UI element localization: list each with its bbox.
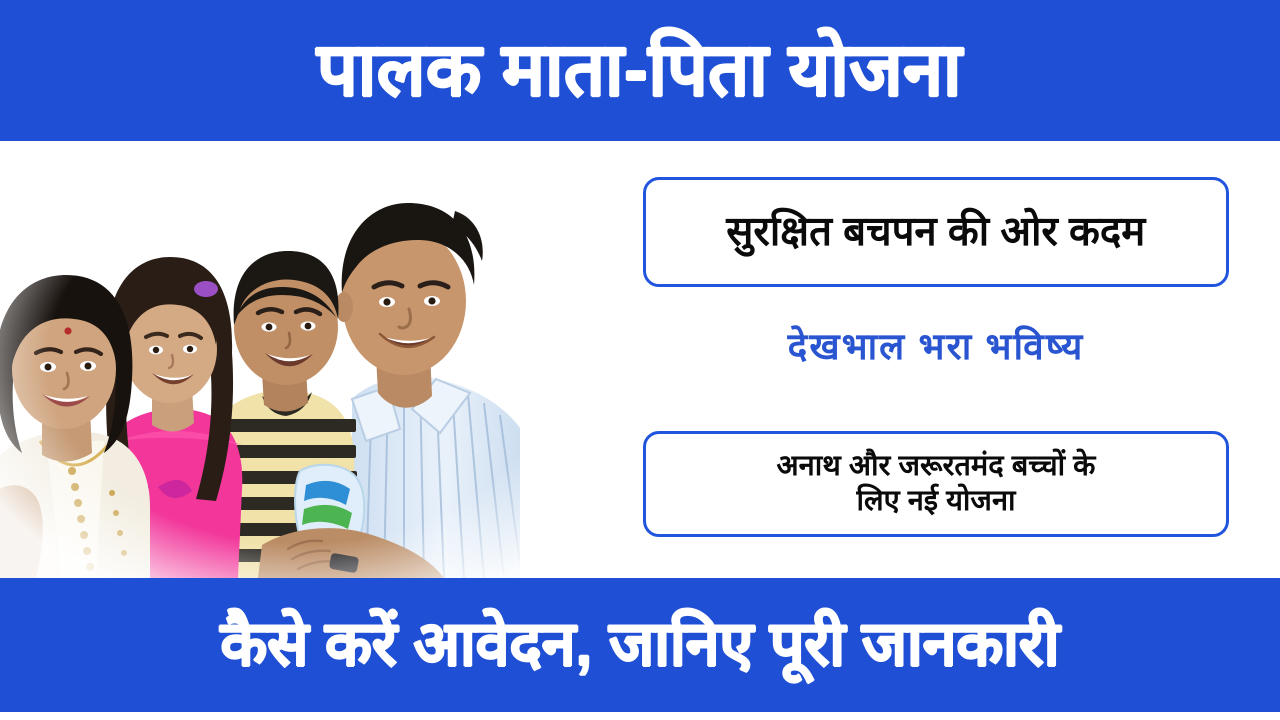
callout-column: सुरक्षित बचपन की ओर कदम देखभाल भरा भविष्… xyxy=(640,141,1240,578)
bottom-white-strip xyxy=(0,712,1280,720)
callout-box-secondary: अनाथ और जरूरतमंद बच्चों के लिए नई योजना xyxy=(643,431,1229,537)
bottom-banner: कैसे करें आवेदन, जानिए पूरी जानकारी xyxy=(0,578,1280,712)
callout-box-primary: सुरक्षित बचपन की ओर कदम xyxy=(643,177,1229,287)
tagline: देखभाल भरा भविष्य xyxy=(640,326,1232,369)
poster-root: पालक माता-पिता योजना xyxy=(0,0,1280,720)
top-banner: पालक माता-पिता योजना xyxy=(0,0,1280,141)
callout-secondary-line1: अनाथ और जरूरतमंद बच्चों के xyxy=(777,450,1096,482)
callout-secondary-line2: लिए नई योजना xyxy=(856,485,1015,517)
family-photo-illustration xyxy=(0,141,600,578)
content-area: सुरक्षित बचपन की ओर कदम देखभाल भरा भविष्… xyxy=(0,141,1280,578)
page-title: पालक माता-पिता योजना xyxy=(317,35,962,105)
callout-secondary-text: अनाथ और जरूरतमंद बच्चों के लिए नई योजना xyxy=(755,449,1118,520)
family-photo xyxy=(0,141,600,578)
callout-primary-text: सुरक्षित बचपन की ओर कदम xyxy=(727,209,1146,254)
tagline-text: देखभाल भरा भविष्य xyxy=(788,326,1085,367)
footer-title: कैसे करें आवेदन, जानिए पूरी जानकारी xyxy=(221,614,1060,676)
